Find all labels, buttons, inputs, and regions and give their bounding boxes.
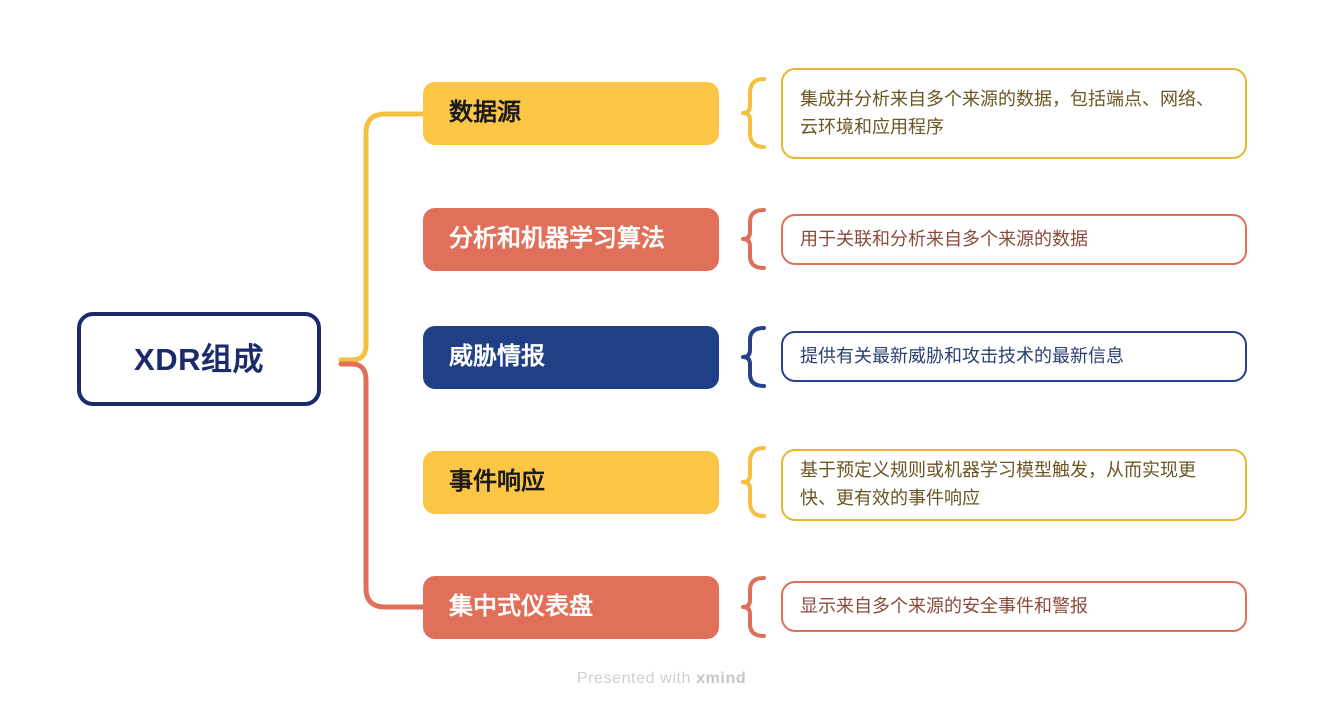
topic-note-brace-4 xyxy=(743,448,764,516)
topic-node-label: 事件响应 xyxy=(449,469,545,495)
note-text: 用于关联和分析来自多个来源的数据 xyxy=(800,226,1088,254)
note-text: 显示来自多个来源的安全事件和警报 xyxy=(800,593,1088,621)
topic-node-analytics-ml[interactable]: 分析和机器学习算法 xyxy=(423,208,719,271)
topic-node-label: 分析和机器学习算法 xyxy=(449,226,665,252)
note-text: 提供有关最新威胁和攻击技术的最新信息 xyxy=(800,343,1124,371)
root-node[interactable]: XDR组成 xyxy=(77,312,321,406)
root-node-label: XDR组成 xyxy=(134,344,264,375)
topic-node-central-dashboard[interactable]: 集中式仪表盘 xyxy=(423,576,719,639)
topic-node-incident-response[interactable]: 事件响应 xyxy=(423,451,719,514)
note-box-data-source[interactable]: 集成并分析来自多个来源的数据，包括端点、网络、云环境和应用程序 xyxy=(781,68,1247,159)
root-branch-upper-connector xyxy=(341,114,423,360)
footer-brand: xmind xyxy=(696,670,746,687)
note-box-incident-response[interactable]: 基于预定义规则或机器学习模型触发，从而实现更快、更有效的事件响应 xyxy=(781,449,1247,521)
topic-node-data-source[interactable]: 数据源 xyxy=(423,82,719,145)
topic-note-brace-1 xyxy=(743,79,764,147)
note-box-threat-intel[interactable]: 提供有关最新威胁和攻击技术的最新信息 xyxy=(781,331,1247,382)
topic-node-label: 威胁情报 xyxy=(449,344,545,370)
mindmap-canvas: XDR组成 数据源 集成并分析来自多个来源的数据，包括端点、网络、云环境和应用程… xyxy=(0,0,1323,714)
topic-node-label: 集中式仪表盘 xyxy=(449,594,593,620)
note-box-analytics-ml[interactable]: 用于关联和分析来自多个来源的数据 xyxy=(781,214,1247,265)
topic-note-brace-3 xyxy=(743,328,764,386)
topic-note-brace-5 xyxy=(743,578,764,636)
footer-watermark: Presented with xmind xyxy=(0,670,1323,688)
topic-node-threat-intel[interactable]: 威胁情报 xyxy=(423,326,719,389)
footer-prefix: Presented with xyxy=(577,670,696,687)
note-text: 集成并分析来自多个来源的数据，包括端点、网络、云环境和应用程序 xyxy=(800,86,1228,142)
topic-note-brace-2 xyxy=(743,210,764,268)
note-text: 基于预定义规则或机器学习模型触发，从而实现更快、更有效的事件响应 xyxy=(800,457,1228,513)
root-branch-lower-connector xyxy=(341,364,423,607)
note-box-central-dashboard[interactable]: 显示来自多个来源的安全事件和警报 xyxy=(781,581,1247,632)
topic-node-label: 数据源 xyxy=(449,100,521,126)
